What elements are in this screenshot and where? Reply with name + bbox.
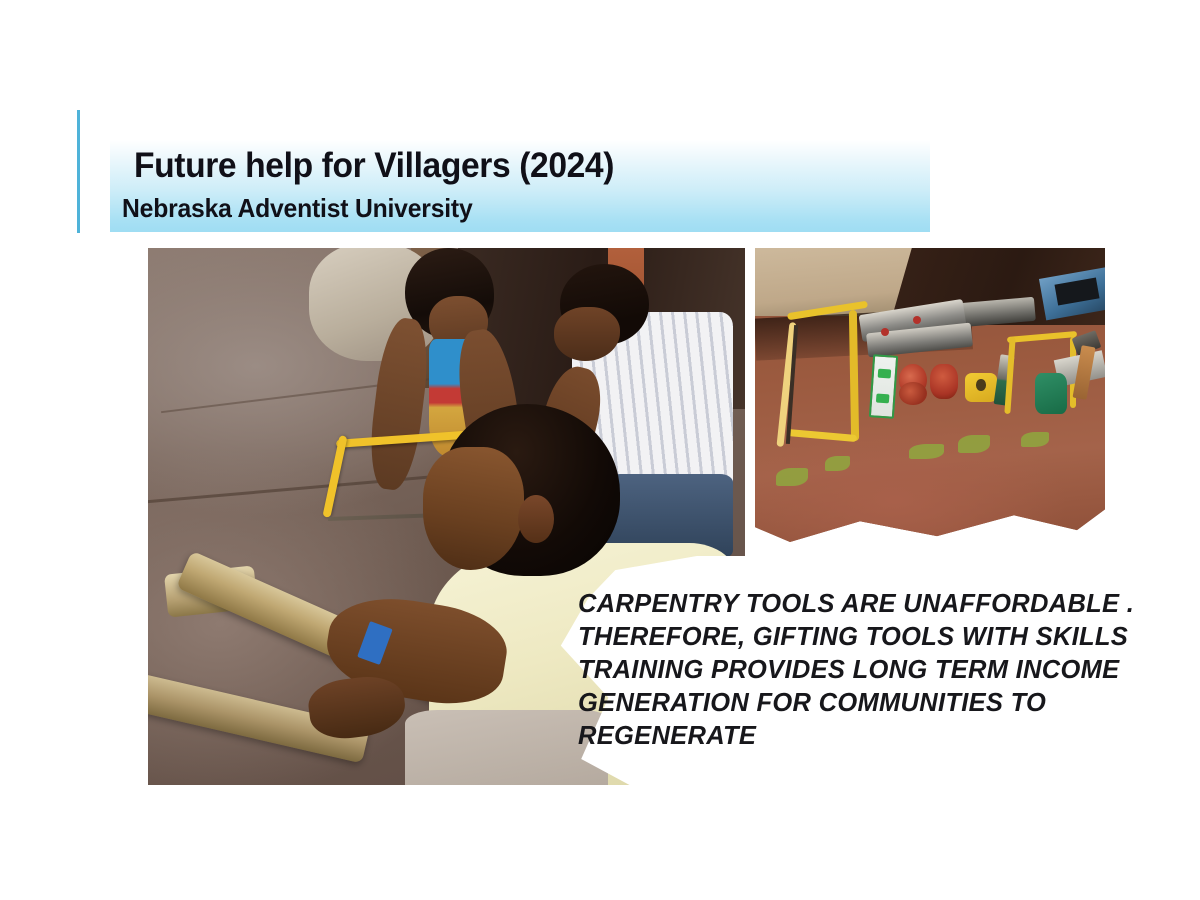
page-subtitle: Nebraska Adventist University <box>122 193 473 224</box>
slide-canvas: Future help for Villagers (2024) Nebrask… <box>0 0 1200 900</box>
weed-sprout <box>909 444 944 459</box>
tool-tape-measure-center <box>976 379 987 391</box>
tool-package-label-dot <box>913 316 921 324</box>
tool-tape-roll-2 <box>930 364 958 400</box>
tool-spirit-level <box>868 354 897 419</box>
title-band: Future help for Villagers (2024) Nebrask… <box>110 140 930 232</box>
saw-frame-left <box>322 435 347 518</box>
weed-sprout <box>1021 432 1049 447</box>
tool-tape-roll-3 <box>899 382 927 406</box>
spirit-level-vial <box>875 393 889 403</box>
weed-sprout <box>825 456 850 471</box>
spirit-level-vial <box>877 368 891 378</box>
caption-text: CARPENTRY TOOLS ARE UNAFFORDABLE . THERE… <box>578 588 1186 753</box>
weed-sprout <box>958 435 990 453</box>
weed-sprout <box>776 468 808 486</box>
title-accent-bar <box>77 110 80 233</box>
page-title: Future help for Villagers (2024) <box>134 146 614 186</box>
person-foreground-ear <box>518 495 554 543</box>
tool-handsaw-green-handle <box>1035 373 1067 415</box>
tool-hacksaw-left-rear <box>848 310 858 441</box>
photo-carpentry-tools-on-soil <box>755 248 1105 545</box>
